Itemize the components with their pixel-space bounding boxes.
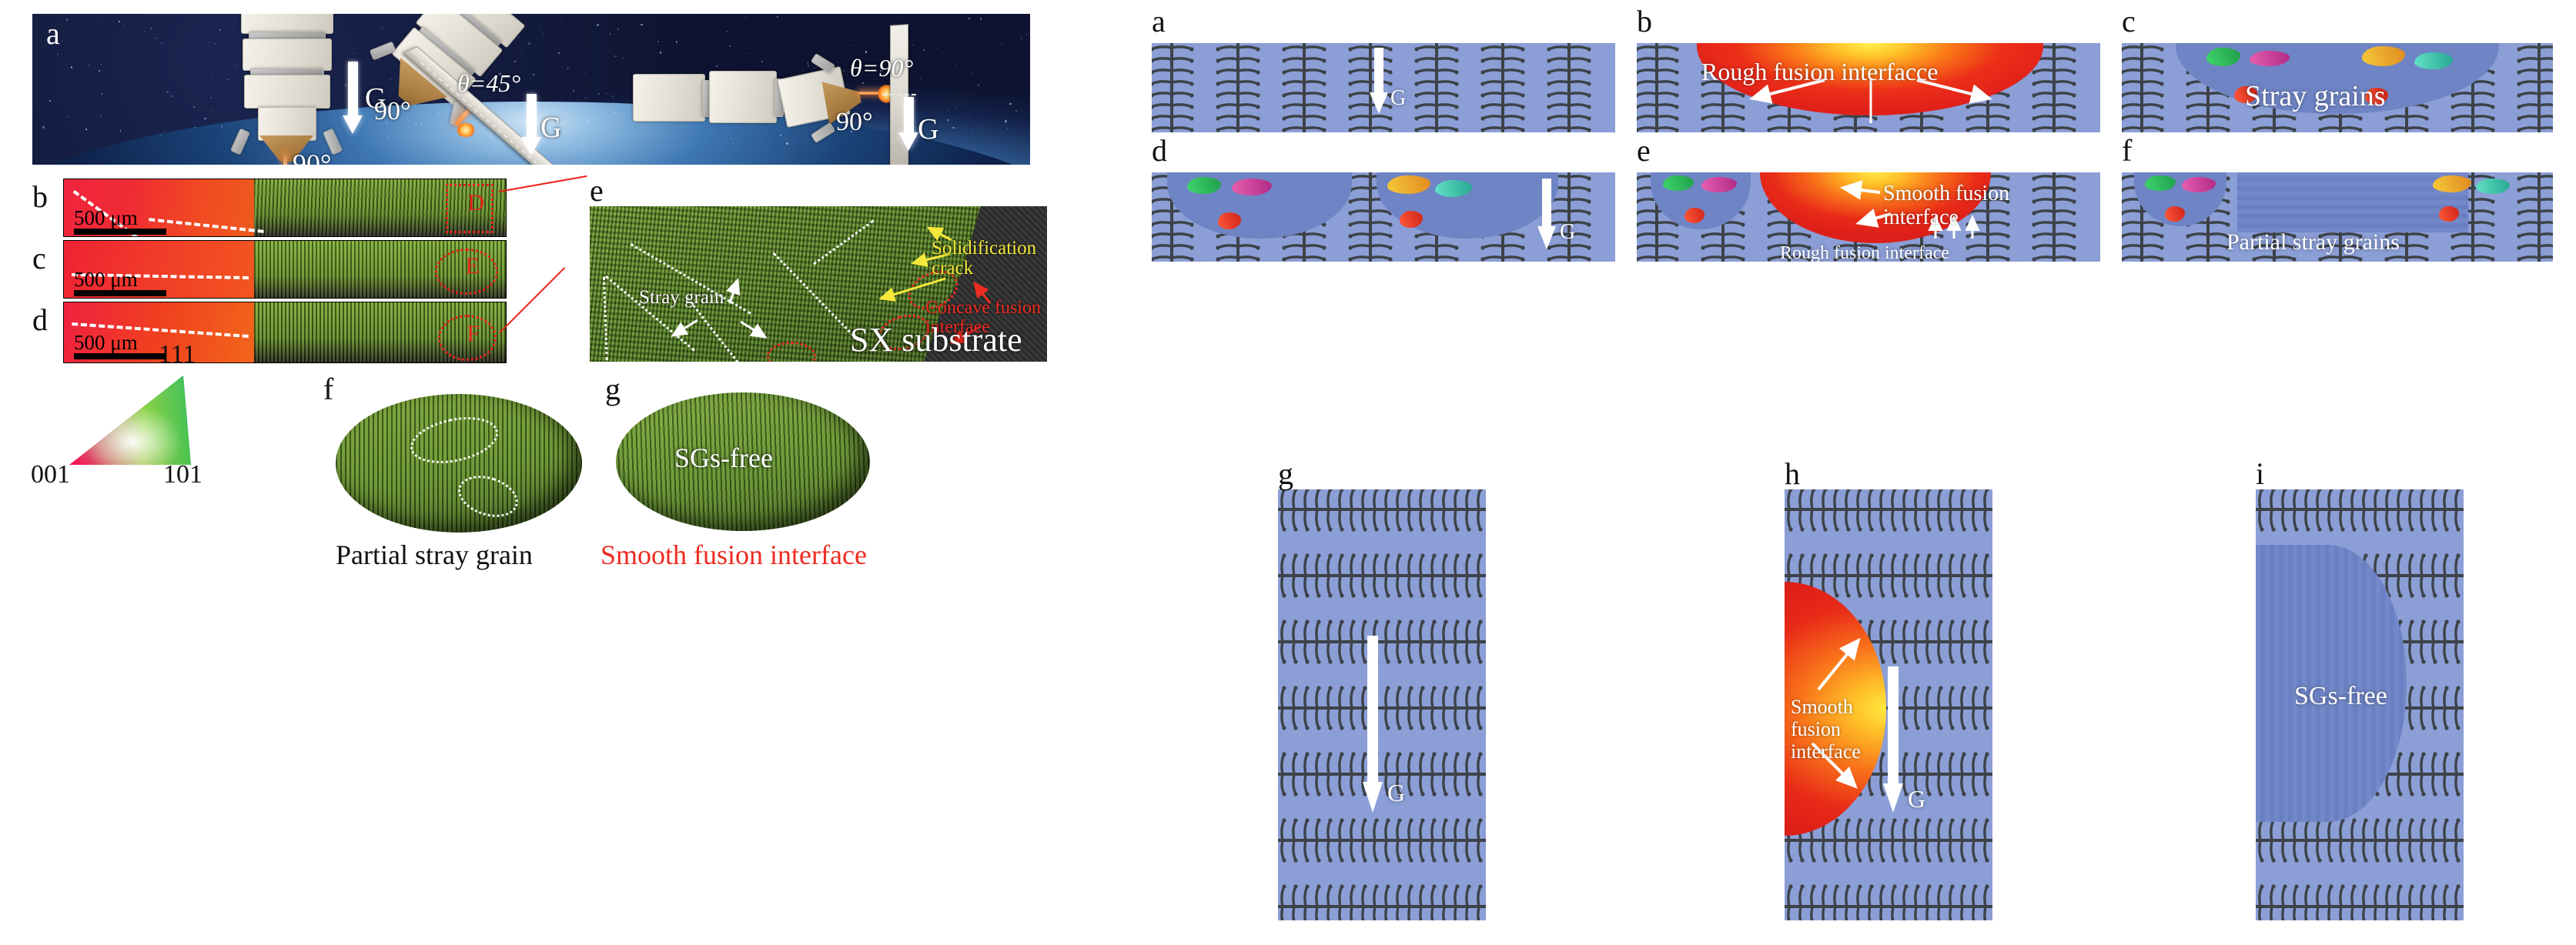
panel-b-roi-label: D (467, 190, 484, 216)
panel-e-label: e (590, 175, 604, 206)
schematic-b-label: b (1637, 6, 1652, 37)
stray-grain-outline-1 (406, 410, 502, 471)
schematic-e-text-secondary: Rough fusion interface (1780, 243, 1949, 262)
panel-a-label: a (46, 18, 60, 49)
schematic-h: Smooth fusion interface G (1785, 489, 1992, 920)
gravity-label-2: G (540, 111, 561, 145)
schematic-f-label: f (2122, 135, 2132, 166)
schematic-b-text: Rough fusion interfacce (1701, 58, 1938, 86)
solidification-crack-label: Solidification crack (932, 239, 1047, 279)
schematic-g-gravity-label: G (1387, 779, 1405, 807)
panel-g-sgs-free-overlay: SGs-free (674, 442, 773, 474)
panel-c-label: c (32, 243, 46, 274)
schematic-h-label: h (1785, 459, 1800, 489)
schematic-a-gravity-label: G (1390, 86, 1406, 111)
stray-grain-label: Stray grain (639, 288, 724, 308)
schematic-f: Partial stray grains (2122, 172, 2553, 262)
theta-label-2: θ=45° (457, 69, 520, 98)
angle-label-2: 90° (374, 97, 411, 126)
panel-g-caption: Smooth fusion interface (601, 539, 867, 571)
build-direction-dash-3 (882, 94, 916, 95)
theta-label-3: θ=90° (850, 54, 913, 82)
panel-f-caption: Partial stray grain (336, 539, 533, 571)
panel-d-scalebar-text: 500 μm (74, 331, 138, 354)
robot-arm-1 (229, 14, 344, 152)
schematic-h-gravity-arrow (1882, 666, 1905, 813)
panel-b-scalebar: 500 μm (74, 206, 166, 235)
schematic-d: G (1152, 172, 1615, 262)
laser-beam-1 (283, 152, 287, 165)
ipf-triangle-icon (68, 374, 205, 466)
panel-c-scalebar: 500 μm (74, 268, 166, 296)
schematic-i: SGs-free (2256, 489, 2464, 920)
panel-c-roi-label: E (466, 253, 480, 279)
roi-connector-bottom (499, 267, 565, 333)
schematic-g: G (1278, 489, 1486, 920)
schematic-c: Stray grains (2122, 43, 2553, 132)
sx-substrate-label: SX substrate (850, 320, 1022, 359)
panel-b-scalebar-text: 500 μm (74, 206, 138, 229)
roi-connector-top (499, 175, 587, 192)
stray-grain-outline-2 (453, 469, 524, 524)
schematic-c-label: c (2122, 6, 2136, 37)
panel-g-sample-surface: SGs-free (616, 392, 870, 531)
schematic-a-gravity-arrow (1369, 48, 1389, 114)
ipf-label-101: 101 (163, 460, 202, 489)
panel-d-roi-label: F (467, 321, 480, 347)
figure-canvas: 90° θ=0° G 90° θ=45° G (0, 0, 2576, 945)
schematic-d-gravity-label: G (1560, 220, 1575, 245)
panel-d-label: d (32, 305, 48, 336)
schematic-e-label: e (1637, 135, 1651, 166)
schematic-i-text: SGs-free (2294, 682, 2387, 711)
schematic-f-text: Partial stray grains (2226, 229, 2400, 255)
schematic-d-label: d (1152, 135, 1167, 166)
schematic-a-label: a (1152, 6, 1166, 37)
angle-label-1: 90° (293, 148, 331, 165)
schematic-b: Rough fusion interfacce (1637, 43, 2100, 132)
schematic-h-text: Smooth fusion interface (1791, 696, 1861, 763)
gravity-label-3: G (918, 112, 938, 146)
ipf-label-001: 001 (31, 460, 70, 489)
schematic-c-text: Stray grains (2245, 80, 2386, 113)
ipf-color-key: 111 001 101 (68, 374, 205, 466)
panel-f-sample-surface (336, 394, 582, 533)
schematic-i-label: i (2256, 459, 2264, 489)
panel-b-label: b (32, 182, 48, 212)
panel-a-space-scene: 90° θ=0° G 90° θ=45° G (32, 14, 1030, 165)
schematic-e: Smooth fusion interface Rough fusion int… (1637, 172, 2100, 262)
schematic-b-arrow-layer (1637, 43, 2100, 132)
panel-f-label: f (323, 374, 333, 405)
panel-d-scalebar: 500 μm (74, 331, 166, 359)
robot-arm-3 (633, 54, 864, 139)
schematic-e-text: Smooth fusion interface (1883, 182, 2009, 230)
melt-pool-2 (456, 123, 476, 137)
schematic-h-gravity-label: G (1908, 785, 1925, 813)
panel-e-sem-micrograph: Solidification crack Stray grain Concave… (590, 206, 1047, 362)
schematic-g-label: g (1278, 459, 1293, 489)
panel-g-label: g (605, 374, 621, 405)
schematic-d-gravity-arrow (1537, 179, 1557, 249)
angle-label-3: 90° (836, 108, 873, 137)
schematic-g-gravity-arrow (1361, 636, 1384, 813)
panel-c-scalebar-text: 500 μm (74, 268, 138, 291)
